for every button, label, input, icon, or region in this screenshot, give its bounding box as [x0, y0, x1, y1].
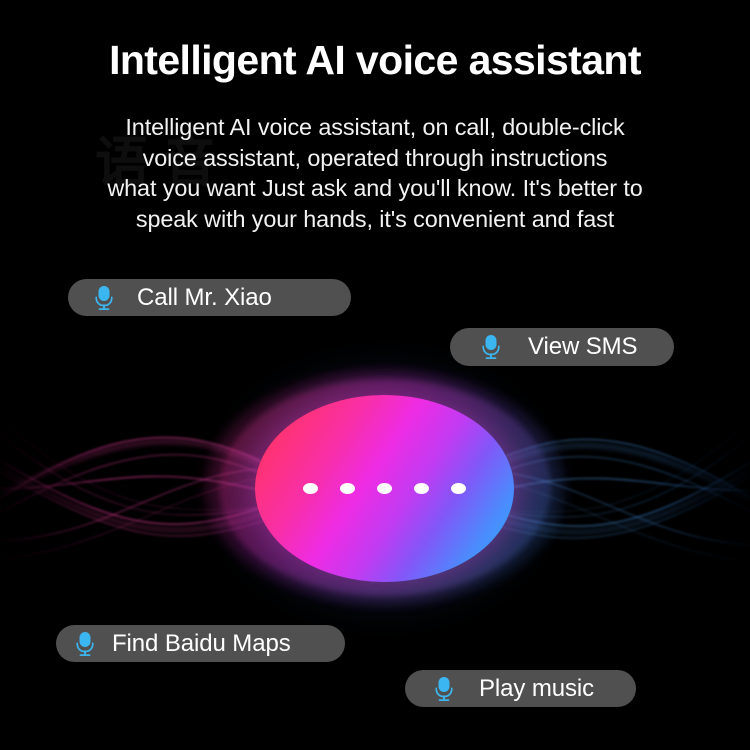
promo-banner: 语音 Intelligent AI voice assistant Intell…: [0, 0, 750, 750]
listening-dot: [303, 483, 318, 494]
listening-dot: [340, 483, 355, 494]
page-title: Intelligent AI voice assistant: [0, 38, 750, 83]
command-pill-label: Find Baidu Maps: [112, 630, 291, 658]
command-pill-music[interactable]: Play music: [405, 670, 636, 707]
listening-dot: [451, 483, 466, 494]
command-pill-label: Call Mr. Xiao: [137, 284, 272, 312]
description-line: speak with your hands, it's convenient a…: [30, 204, 720, 235]
voice-assistant-orb[interactable]: [205, 370, 565, 605]
listening-dot: [414, 483, 429, 494]
listening-dot: [377, 483, 392, 494]
description-line: Intelligent AI voice assistant, on call,…: [30, 112, 720, 143]
microphone-icon: [93, 285, 115, 311]
listening-dots: [255, 395, 514, 582]
command-pill-sms[interactable]: View SMS: [450, 328, 674, 366]
command-pill-label: Play music: [479, 675, 594, 703]
command-pill-label: View SMS: [528, 333, 637, 361]
microphone-icon: [433, 676, 455, 702]
command-pill-call[interactable]: Call Mr. Xiao: [68, 279, 351, 316]
microphone-icon: [480, 334, 502, 360]
description-paragraph: Intelligent AI voice assistant, on call,…: [30, 112, 720, 234]
command-pill-maps[interactable]: Find Baidu Maps: [56, 625, 345, 662]
microphone-icon: [74, 631, 96, 657]
description-line: voice assistant, operated through instru…: [30, 143, 720, 174]
description-line: what you want Just ask and you'll know. …: [30, 173, 720, 204]
